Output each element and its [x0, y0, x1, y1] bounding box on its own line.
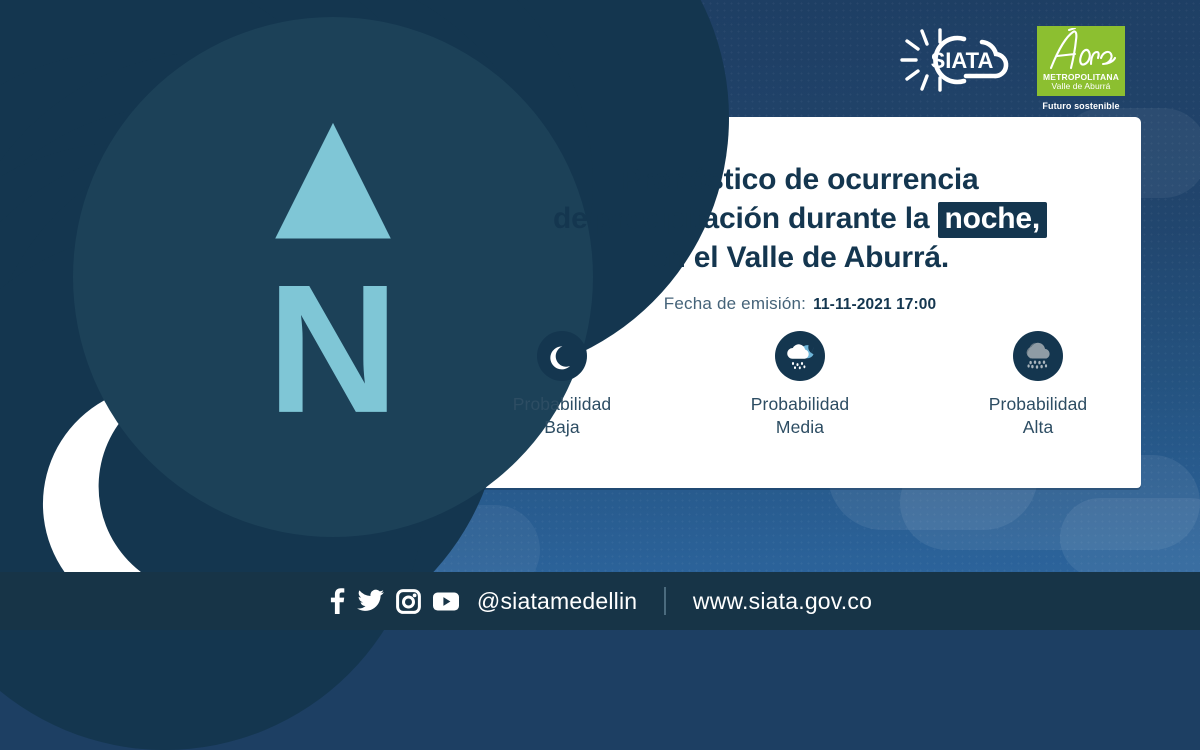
issue-date-value: 11-11-2021 17:00 [813, 296, 936, 314]
amva-tagline: Futuro sostenible [1037, 101, 1125, 111]
legend-baja-line1: Probabilidad [487, 393, 637, 416]
compass-north-label: N [267, 246, 399, 451]
legend-alta-line1: Probabilidad [963, 393, 1113, 416]
headline-block: Pronóstico de ocurrencia de precipitació… [470, 160, 1130, 314]
title-line-1: Pronóstico de ocurrencia [470, 160, 1130, 199]
title-highlight-noche: noche, [938, 202, 1047, 238]
youtube-icon[interactable] [432, 591, 460, 612]
title-line-3: en el Valle de Aburrá. [470, 238, 1130, 277]
moon-icon [487, 330, 637, 382]
legend-item-alta: Probabilidad Alta [963, 330, 1113, 439]
legend-media-line2: Media [725, 416, 875, 439]
page-title: Pronóstico de ocurrencia de precipitació… [470, 160, 1130, 277]
siata-wordmark: SIATA [931, 48, 994, 73]
legend-item-baja: Probabilidad Baja [487, 330, 637, 439]
legend-label-media: Probabilidad Media [725, 393, 875, 439]
cloud-rain-moon-icon [725, 330, 875, 382]
instagram-icon[interactable] [396, 589, 421, 614]
title-line-2-text: de precipitación durante la [553, 202, 929, 235]
twitter-icon[interactable] [357, 589, 385, 613]
legend-label-alta: Probabilidad Alta [963, 393, 1113, 439]
social-icons [328, 587, 460, 615]
website-url[interactable]: www.siata.gov.co [693, 588, 872, 615]
title-line-2: de precipitación durante la noche, [470, 199, 1130, 238]
probability-legend: Probabilidad Baja Probabili [470, 330, 1130, 439]
amva-green-box: METROPOLITANA Valle de Aburrá [1037, 26, 1125, 96]
footer-bar: @siatamedellin www.siata.gov.co [0, 572, 1200, 630]
cloud-heavy-rain-icon [963, 330, 1113, 382]
social-handle[interactable]: @siatamedellin [477, 588, 637, 615]
siata-logo[interactable]: SIATA [898, 27, 1026, 98]
legend-item-media: Probabilidad Media [725, 330, 875, 439]
legend-label-baja: Probabilidad Baja [487, 393, 637, 439]
area-metropolitana-logo[interactable]: METROPOLITANA Valle de Aburrá Futuro sos… [1037, 26, 1125, 111]
area-script-icon [1043, 28, 1119, 72]
cloud-shape [1060, 498, 1200, 578]
issue-date-label: Fecha de emisión: [664, 294, 806, 314]
facebook-icon[interactable] [328, 587, 346, 615]
legend-baja-line2: Baja [487, 416, 637, 439]
legend-alta-line2: Alta [963, 416, 1113, 439]
legend-media-line1: Probabilidad [725, 393, 875, 416]
footer-divider [664, 587, 666, 615]
issue-date-row: Fecha de emisión: 11-11-2021 17:00 [470, 294, 1130, 314]
amva-valle-label: Valle de Aburrá [1052, 82, 1111, 92]
